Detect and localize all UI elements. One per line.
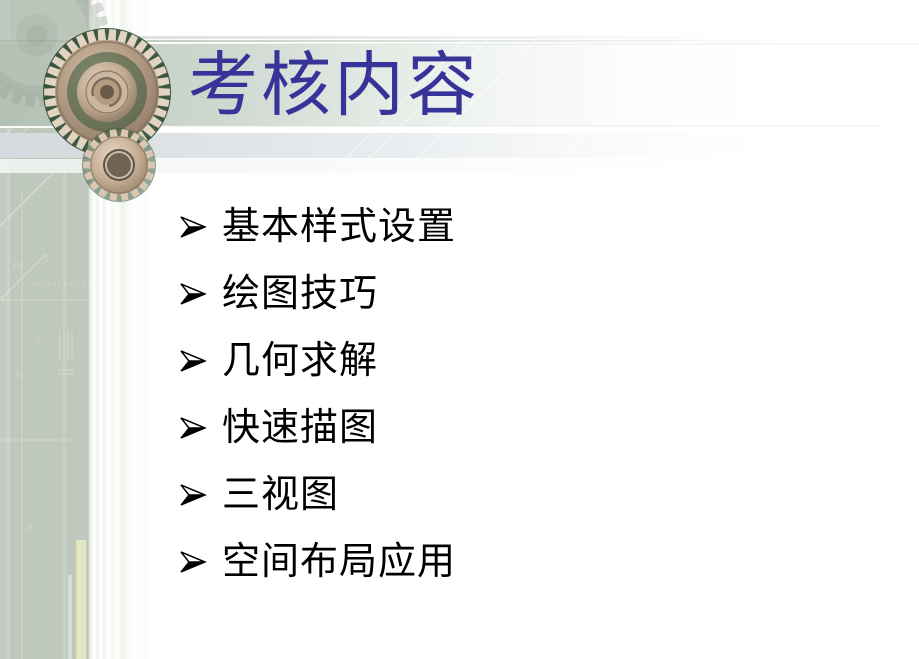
arrowhead-bullet-icon bbox=[178, 413, 222, 443]
svg-text:8: 8 bbox=[28, 522, 33, 532]
list-item-label: 三视图 bbox=[222, 473, 339, 517]
svg-text:TH VT 0 0 5 1 2 7 1: TH VT 0 0 5 1 2 7 1 bbox=[30, 281, 91, 288]
list-item-label: 几何求解 bbox=[222, 339, 378, 383]
arrowhead-bullet-icon bbox=[178, 212, 222, 242]
bullet-list: 基本样式设置 绘图技巧 几何求解 bbox=[178, 193, 878, 595]
list-item[interactable]: 基本样式设置 bbox=[178, 193, 878, 260]
svg-text:9: 9 bbox=[44, 254, 49, 264]
page-title: 考核内容 bbox=[188, 44, 480, 130]
list-item-label: 绘图技巧 bbox=[222, 272, 378, 316]
presentation-slide: 25 9 6 5 8 TH VT 0 0 5 1 2 7 1 bbox=[0, 0, 919, 659]
list-item[interactable]: 几何求解 bbox=[178, 327, 878, 394]
list-item[interactable]: 空间布局应用 bbox=[178, 528, 878, 595]
list-item-label: 基本样式设置 bbox=[222, 205, 456, 249]
svg-text:5: 5 bbox=[16, 370, 21, 380]
arrowhead-bullet-icon bbox=[178, 346, 222, 376]
arrowhead-bullet-icon bbox=[178, 480, 222, 510]
list-item[interactable]: 三视图 bbox=[178, 461, 878, 528]
svg-text:6: 6 bbox=[36, 337, 41, 347]
list-item[interactable]: 绘图技巧 bbox=[178, 260, 878, 327]
list-item-label: 快速描图 bbox=[222, 406, 378, 450]
svg-text:25: 25 bbox=[12, 260, 22, 270]
arrowhead-bullet-icon bbox=[178, 547, 222, 577]
list-item[interactable]: 快速描图 bbox=[178, 394, 878, 461]
panel-stripe-gray bbox=[68, 575, 72, 659]
list-item-label: 空间布局应用 bbox=[222, 540, 456, 584]
panel-stripe-yellow bbox=[76, 540, 86, 659]
arrowhead-bullet-icon bbox=[178, 279, 222, 309]
gear-icon bbox=[79, 125, 159, 205]
